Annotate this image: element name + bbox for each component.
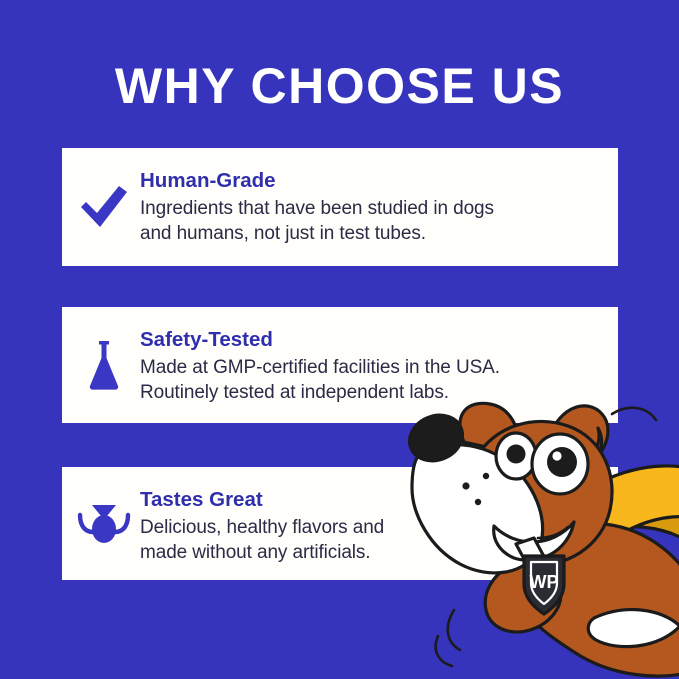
- tongue-icon: [62, 467, 140, 580]
- benefit-card-title: Safety-Tested: [140, 327, 602, 353]
- page-title: WHY CHOOSE US: [0, 58, 679, 114]
- benefit-card-text: Tastes Great Delicious, healthy flavors …: [140, 467, 618, 565]
- checkmark-icon: [62, 148, 140, 266]
- benefit-card-text: Human-Grade Ingredients that have been s…: [140, 148, 618, 246]
- benefit-card-title: Human-Grade: [140, 168, 602, 194]
- benefit-card: Tastes Great Delicious, healthy flavors …: [62, 467, 618, 580]
- flask-icon: [62, 307, 140, 423]
- benefit-card-text: Safety-Tested Made at GMP-certified faci…: [140, 307, 618, 405]
- benefit-card-description: Made at GMP-certified facilities in the …: [140, 355, 602, 405]
- benefit-card: Safety-Tested Made at GMP-certified faci…: [62, 307, 618, 423]
- description-line: Delicious, healthy flavors and: [140, 515, 602, 540]
- benefit-card-description: Ingredients that have been studied in do…: [140, 196, 602, 246]
- benefit-card-description: Delicious, healthy flavors and made with…: [140, 515, 602, 565]
- benefit-card: Human-Grade Ingredients that have been s…: [62, 148, 618, 266]
- description-line: Routinely tested at independent labs.: [140, 380, 602, 405]
- benefit-card-title: Tastes Great: [140, 487, 602, 513]
- description-line: made without any artificials.: [140, 540, 602, 565]
- description-line: Ingredients that have been studied in do…: [140, 196, 602, 221]
- description-line: and humans, not just in test tubes.: [140, 221, 602, 246]
- infographic-canvas: WHY CHOOSE US Human-Grade Ingredients th…: [0, 0, 679, 679]
- description-line: Made at GMP-certified facilities in the …: [140, 355, 602, 380]
